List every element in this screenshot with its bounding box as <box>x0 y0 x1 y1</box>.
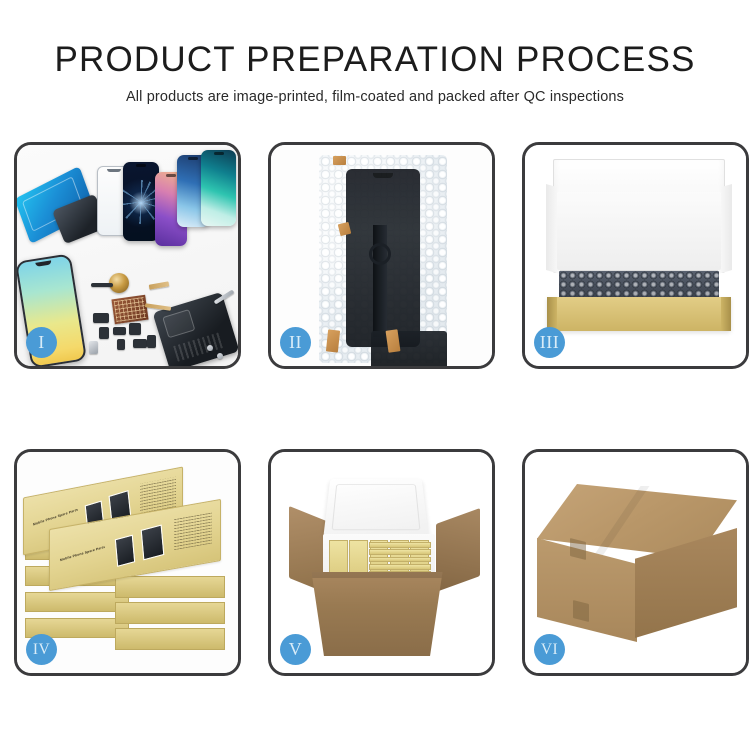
step-badge-1: I <box>26 327 57 358</box>
retail-box <box>369 549 431 555</box>
product-preparation-infographic: PRODUCT PREPARATION PROCESS All products… <box>0 0 750 750</box>
retail-box <box>369 542 431 548</box>
page-title: PRODUCT PREPARATION PROCESS <box>0 40 750 80</box>
notch <box>166 174 176 177</box>
foam-box-open-lid <box>323 479 428 537</box>
process-step-panel-1: I <box>14 142 241 369</box>
spare-part <box>129 323 141 335</box>
carton-tape-tab <box>570 538 586 560</box>
page-subtitle: All products are image-printed, film-coa… <box>0 89 750 105</box>
spare-part <box>93 313 109 323</box>
step-badge-3: III <box>534 327 565 358</box>
spare-part <box>147 335 156 348</box>
process-step-panel-6: VI <box>522 449 749 676</box>
process-step-grid: I II <box>14 142 736 676</box>
box-edge <box>115 576 225 598</box>
step-4-illustration: Mobile Phone Spare Parts Mobile Phone Sp… <box>17 452 238 673</box>
step-5-illustration: V <box>271 452 492 673</box>
product-image-swatch <box>141 524 165 560</box>
retail-box <box>369 564 431 570</box>
carton-left-face <box>537 538 637 642</box>
spare-part-flex-cable <box>149 281 170 289</box>
phone-back-housing <box>153 292 238 366</box>
white-foam-pad <box>557 192 721 270</box>
bag-bottom-shadow <box>371 331 447 366</box>
spare-part-bracket <box>89 341 98 354</box>
outer-carton-open <box>299 572 455 656</box>
notch <box>214 152 224 155</box>
step-1-illustration: I <box>17 145 238 366</box>
tape-piece <box>326 329 340 352</box>
spare-part-flex-cable <box>145 303 171 311</box>
box-edge <box>25 592 129 612</box>
step-badge-6: VI <box>534 634 565 665</box>
lcd-screen-teal <box>201 150 236 226</box>
retail-box <box>369 557 431 563</box>
screen-flex-strip <box>373 225 387 337</box>
step-2-illustration: II <box>271 145 492 366</box>
process-step-panel-5: V <box>268 449 495 676</box>
screen-flex-coil <box>369 243 391 265</box>
notch <box>136 164 146 167</box>
tape-piece <box>333 156 346 165</box>
spare-part <box>99 327 109 339</box>
spec-text-lines <box>174 511 212 550</box>
spare-part <box>117 339 125 350</box>
step-badge-2: II <box>280 327 311 358</box>
process-step-panel-3: III <box>522 142 749 369</box>
retail-box-label: Mobile Phone Spare Parts <box>60 545 106 562</box>
box-edge <box>115 628 225 650</box>
step-badge-4: IV <box>26 634 57 665</box>
product-image-swatch <box>115 535 135 567</box>
retail-box-stack: Mobile Phone Spare Parts Mobile Phone Sp… <box>19 464 237 664</box>
header: PRODUCT PREPARATION PROCESS All products… <box>0 40 750 105</box>
step-3-illustration: III <box>525 145 746 366</box>
spare-part <box>133 339 147 348</box>
process-step-panel-4: Mobile Phone Spare Parts Mobile Phone Sp… <box>14 449 241 676</box>
box-edge <box>115 602 225 624</box>
notch <box>188 157 198 160</box>
carton-flap-right <box>436 508 480 592</box>
step-6-illustration: VI <box>525 452 746 673</box>
process-step-panel-2: II <box>268 142 495 369</box>
spare-part <box>91 283 113 287</box>
spare-part <box>113 327 126 335</box>
step-badge-5: V <box>280 634 311 665</box>
spare-part-screw <box>207 345 213 351</box>
kraft-box-front-wall <box>547 297 731 331</box>
logic-board-part <box>111 295 148 324</box>
retail-box-label: Mobile Phone Spare Parts <box>33 508 79 527</box>
carton-tape-tab <box>573 600 589 622</box>
spare-part-screw <box>217 353 223 359</box>
lcd-screen-black <box>123 162 159 241</box>
